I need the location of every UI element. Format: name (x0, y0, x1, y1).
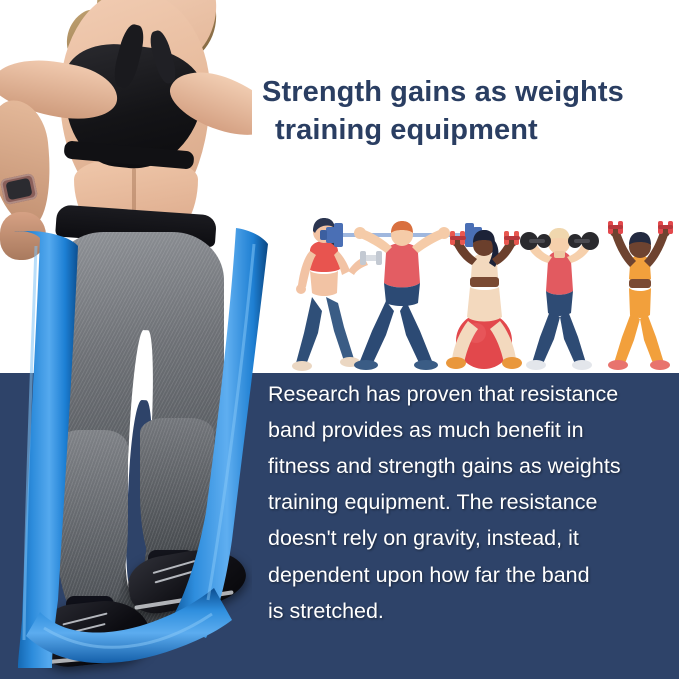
body-line-3: fitness and strength gains as weights (268, 448, 676, 484)
poster: Strength gains as weights training equip… (0, 0, 679, 679)
figure-man-shoulder-press (520, 228, 599, 370)
body-line-2: band provides as much benefit in (268, 412, 676, 448)
figure-woman-overhead-raise (608, 221, 673, 370)
model-right-calf (140, 418, 214, 568)
model-photo (0, 0, 252, 679)
headline-line-2: training equipment (262, 112, 674, 150)
model-left-forearm (0, 97, 56, 229)
body-line-7: is stretched. (268, 593, 676, 629)
body-paragraph: Research has proven that resistance band… (268, 376, 676, 629)
body-line-4: training equipment. The resistance (268, 484, 676, 520)
figure-woman-ball-press (446, 230, 522, 369)
exercise-figures-illustration (282, 213, 679, 375)
body-line-5: doesn't rely on gravity, instead, it (268, 520, 676, 556)
model-left-calf (56, 430, 128, 610)
body-line-1: Research has proven that resistance (268, 376, 676, 412)
headline: Strength gains as weights training equip… (262, 74, 674, 149)
model-left-fist (0, 212, 46, 260)
body-line-6: dependent upon how far the band (268, 557, 676, 593)
headline-line-1: Strength gains as weights (262, 76, 624, 108)
